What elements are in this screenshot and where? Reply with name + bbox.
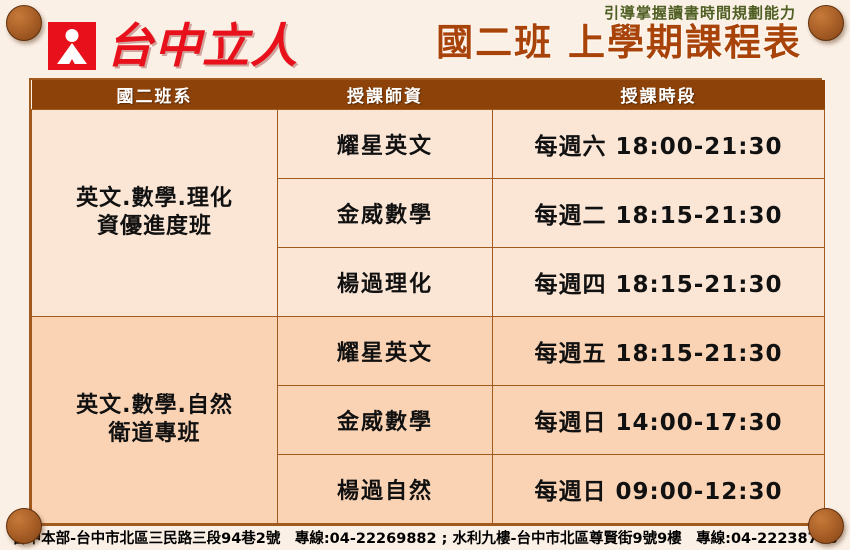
teacher-cell: 耀星英文 xyxy=(278,110,493,179)
program-line-2: 資優進度班 xyxy=(32,213,277,241)
page-title: 國二班 上學期課程表 xyxy=(436,23,802,63)
teacher-cell: 楊過理化 xyxy=(278,248,493,317)
footer-contact-info: 台中本部-台中市北區三民路三段94巷2號 專線:04-22269882 ; 水利… xyxy=(0,527,850,548)
poster-header: 台中立人 引導掌握讀書時間規劃能力 國二班 上學期課程表 xyxy=(0,0,850,78)
table-row: 英文.數學.理化 資優進度班 耀星英文 每週六 18:00-21:30 xyxy=(32,110,825,179)
corner-bolt-top-right xyxy=(808,5,844,41)
person-figure-icon xyxy=(48,22,96,70)
timeslot-cell: 每週五 18:15-21:30 xyxy=(493,317,825,386)
table-body: 英文.數學.理化 資優進度班 耀星英文 每週六 18:00-21:30 金威數學… xyxy=(32,110,825,524)
table-header: 國二班系 授課師資 授課時段 xyxy=(32,80,825,110)
timeslot-cell: 每週日 14:00-17:30 xyxy=(493,386,825,455)
program-line-1: 英文.數學.自然 xyxy=(32,392,277,420)
poster-subtitle: 引導掌握讀書時間規劃能力 xyxy=(436,4,796,22)
table-header-row: 國二班系 授課師資 授課時段 xyxy=(32,80,825,110)
timeslot-cell: 每週四 18:15-21:30 xyxy=(493,248,825,317)
program-cell-group-1: 英文.數學.理化 資優進度班 xyxy=(32,110,278,317)
teacher-cell: 金威數學 xyxy=(278,386,493,455)
teacher-cell: 金威數學 xyxy=(278,179,493,248)
corner-bolt-bottom-right xyxy=(808,508,844,544)
timeslot-cell: 每週六 18:00-21:30 xyxy=(493,110,825,179)
program-line-1: 英文.數學.理化 xyxy=(32,185,277,213)
column-header-teacher: 授課師資 xyxy=(278,80,493,110)
program-line-2: 衛道專班 xyxy=(32,420,277,448)
title-block: 引導掌握讀書時間規劃能力 國二班 上學期課程表 xyxy=(436,4,802,63)
corner-bolt-bottom-left xyxy=(6,508,42,544)
timeslot-cell: 每週日 09:00-12:30 xyxy=(493,455,825,524)
corner-bolt-top-left xyxy=(6,5,42,41)
schedule-table: 國二班系 授課師資 授課時段 英文.數學.理化 資優進度班 耀星英文 每週六 1… xyxy=(31,80,825,524)
brand-logo: 台中立人 xyxy=(48,22,298,70)
column-header-program: 國二班系 xyxy=(32,80,278,110)
schedule-table-wrapper: 國二班系 授課師資 授課時段 英文.數學.理化 資優進度班 耀星英文 每週六 1… xyxy=(29,78,822,526)
table-row: 英文.數學.自然 衛道專班 耀星英文 每週五 18:15-21:30 xyxy=(32,317,825,386)
timeslot-cell: 每週二 18:15-21:30 xyxy=(493,179,825,248)
column-header-timeslot: 授課時段 xyxy=(493,80,825,110)
teacher-cell: 楊過自然 xyxy=(278,455,493,524)
teacher-cell: 耀星英文 xyxy=(278,317,493,386)
brand-name: 台中立人 xyxy=(106,23,298,70)
program-cell-group-2: 英文.數學.自然 衛道專班 xyxy=(32,317,278,524)
